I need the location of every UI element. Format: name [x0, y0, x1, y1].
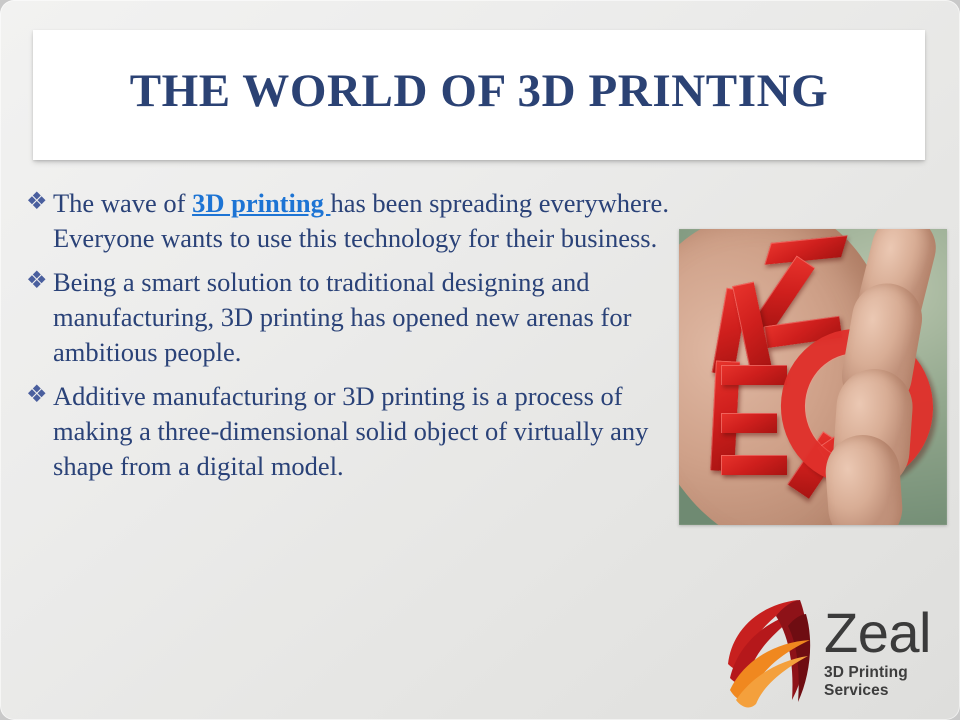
bullet-text: Additive manufacturing or 3D printing is… — [53, 379, 674, 484]
3d-printing-link[interactable]: 3D printing — [192, 188, 330, 218]
brand-tagline: 3D Printing Services — [824, 664, 950, 700]
title-placeholder: The World of 3D Printing — [33, 30, 925, 160]
zeal-wordmark: Zeal 3D Printing Services — [824, 606, 950, 701]
zeal-swoosh-icon — [714, 598, 822, 708]
list-item: ❖ Being a smart solution to traditional … — [26, 265, 674, 370]
zeal-logo: Zeal 3D Printing Services — [714, 592, 950, 714]
list-item: ❖ The wave of 3D printing has been sprea… — [26, 186, 674, 256]
bullet-text: Being a smart solution to traditional de… — [53, 265, 674, 370]
3d-printed-letters-photo — [679, 229, 947, 525]
list-item: ❖ Additive manufacturing or 3D printing … — [26, 379, 674, 484]
bullet-text-segment: The wave of — [53, 188, 192, 218]
diamond-bullet-icon: ❖ — [26, 265, 51, 298]
page-title: The World of 3D Printing — [130, 67, 829, 116]
presentation-slide: The World of 3D Printing ❖ The wave of 3… — [0, 0, 960, 720]
diamond-bullet-icon: ❖ — [26, 379, 51, 412]
brand-name: Zeal — [824, 606, 931, 661]
bullet-text: The wave of 3D printing has been spreadi… — [53, 186, 674, 256]
content-placeholder: ❖ The wave of 3D printing has been sprea… — [26, 186, 674, 493]
hand-fingers-shape — [835, 229, 947, 451]
diamond-bullet-icon: ❖ — [26, 186, 51, 219]
